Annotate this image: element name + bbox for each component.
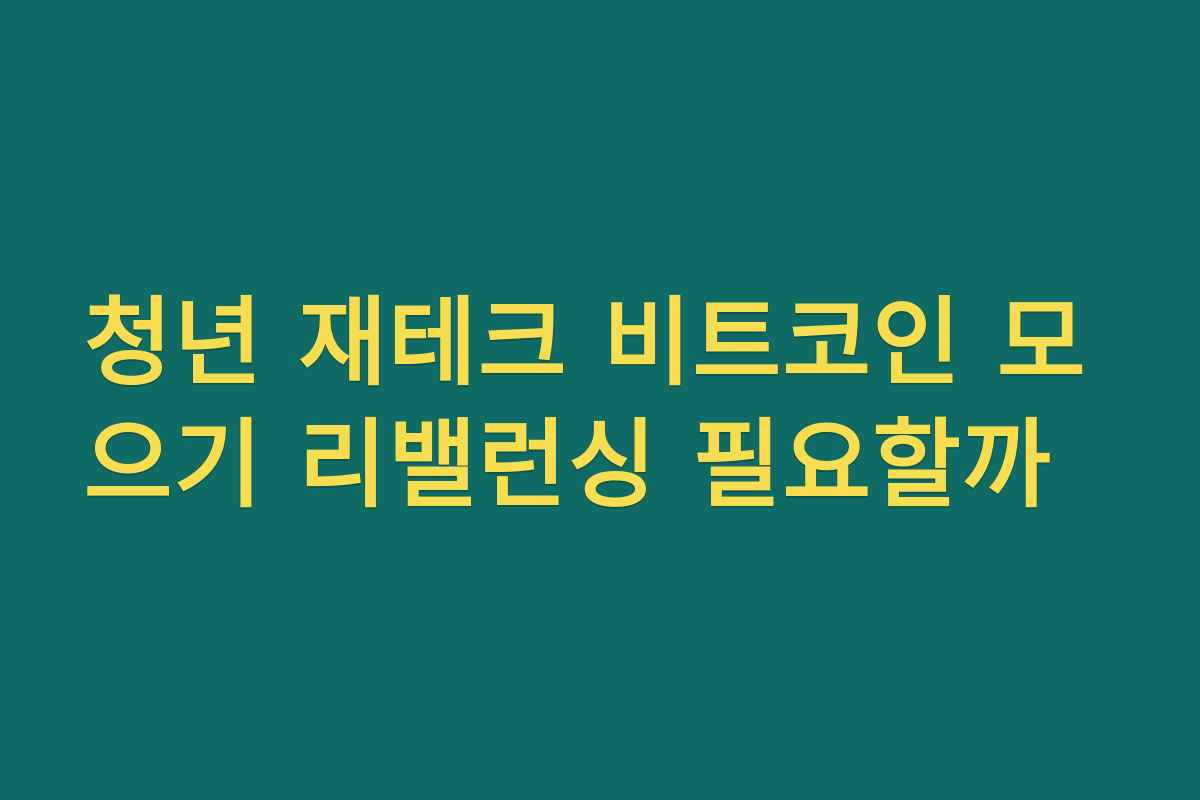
headline-line-2: 으기 리밸런싱 필요할까 [84, 404, 1124, 526]
headline-line-1: 청년 재테크 비트코인 모 [84, 282, 1124, 404]
thumbnail-canvas: 청년 재테크 비트코인 모 으기 리밸런싱 필요할까 [0, 0, 1200, 800]
headline-block: 청년 재테크 비트코인 모 으기 리밸런싱 필요할까 [84, 282, 1124, 526]
